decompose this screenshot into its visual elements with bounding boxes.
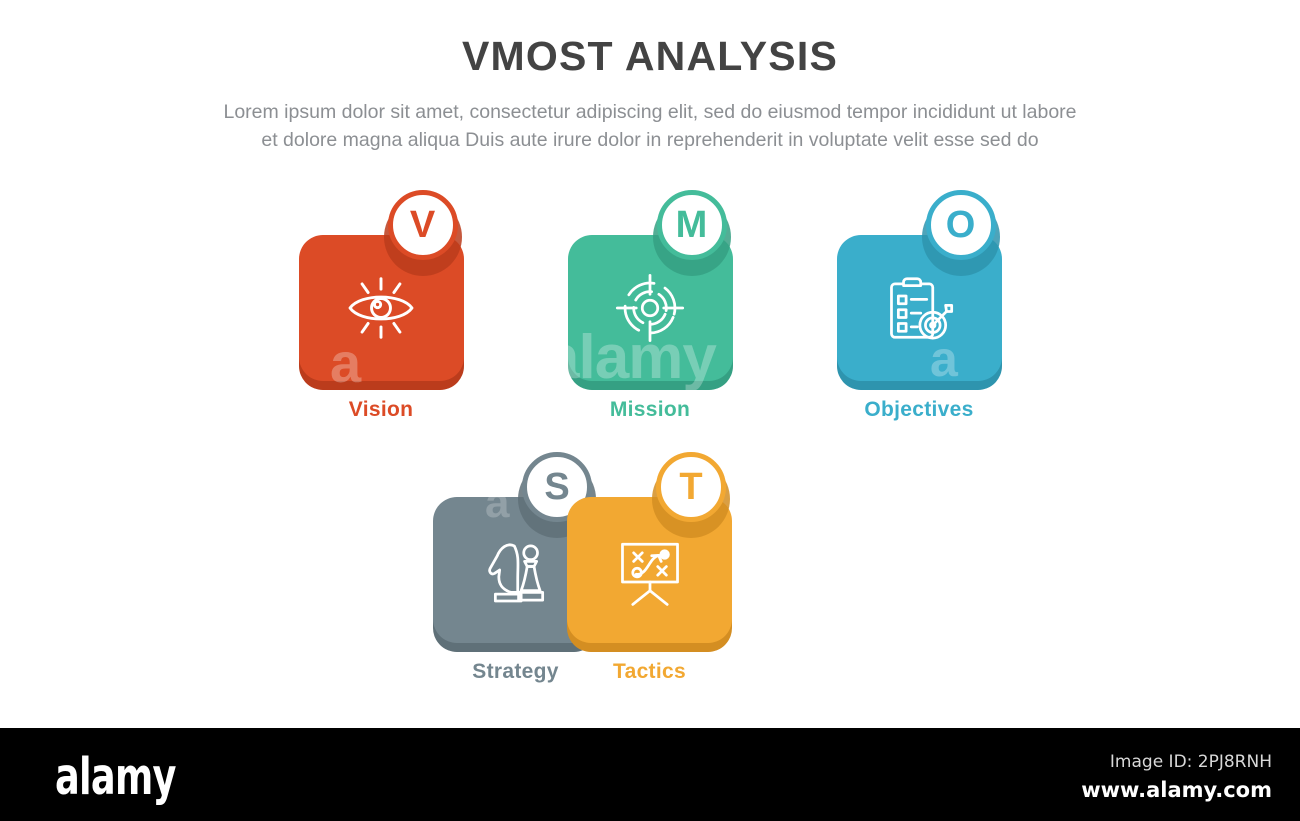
subtitle-line-2: et dolore magna aliqua Duis aute irure d… bbox=[65, 126, 1235, 154]
badge-tactics[interactable]: T bbox=[656, 452, 726, 522]
page-title: VMOST ANALYSIS bbox=[0, 28, 1300, 84]
eye-icon bbox=[338, 265, 424, 351]
card-item-tactics[interactable]: T Tactics bbox=[567, 452, 732, 657]
badge-letter-tactics: T bbox=[679, 468, 702, 506]
header: VMOST ANALYSIS Lorem ipsum dolor sit ame… bbox=[0, 28, 1300, 154]
badge-letter-strategy: S bbox=[544, 468, 569, 506]
card-item-vision[interactable]: V Vision bbox=[299, 190, 464, 395]
clipboard-target-icon bbox=[876, 265, 962, 351]
alamy-url-text: www.alamy.com bbox=[1081, 778, 1272, 802]
alamy-logo: alamy bbox=[55, 748, 176, 807]
badge-letter-vision: V bbox=[410, 206, 435, 244]
strategy-board-icon bbox=[607, 527, 693, 613]
card-wrap-vision: V bbox=[299, 190, 464, 395]
page-subtitle: Lorem ipsum dolor sit amet, consectetur … bbox=[65, 98, 1235, 154]
chess-knight-icon bbox=[473, 527, 559, 613]
badge-vision[interactable]: V bbox=[388, 190, 458, 260]
card-label-vision: Vision bbox=[259, 398, 504, 422]
card-wrap-mission: M bbox=[568, 190, 733, 395]
card-wrap-tactics: T bbox=[567, 452, 732, 657]
image-id-text: Image ID: 2PJ8RNH bbox=[1110, 752, 1272, 772]
card-label-objectives: Objectives bbox=[797, 398, 1042, 422]
cards-row-top: V Vision bbox=[0, 190, 1300, 395]
card-label-mission: Mission bbox=[528, 398, 773, 422]
cards-row-bottom: S Strategy bbox=[0, 452, 1300, 657]
target-crosshair-icon bbox=[607, 265, 693, 351]
badge-mission[interactable]: M bbox=[657, 190, 727, 260]
card-label-tactics: Tactics bbox=[527, 660, 772, 684]
card-wrap-objectives: O bbox=[837, 190, 1002, 395]
badge-objectives[interactable]: O bbox=[926, 190, 996, 260]
card-item-mission[interactable]: M Mission bbox=[568, 190, 733, 395]
card-item-objectives[interactable]: O Objectives bbox=[837, 190, 1002, 395]
subtitle-line-1: Lorem ipsum dolor sit amet, consectetur … bbox=[65, 98, 1235, 126]
badge-letter-objectives: O bbox=[946, 206, 976, 244]
badge-letter-mission: M bbox=[676, 206, 708, 244]
infographic-canvas: VMOST ANALYSIS Lorem ipsum dolor sit ame… bbox=[0, 0, 1300, 821]
alamy-watermark-bar: alamy Image ID: 2PJ8RNH www.alamy.com bbox=[0, 728, 1300, 821]
